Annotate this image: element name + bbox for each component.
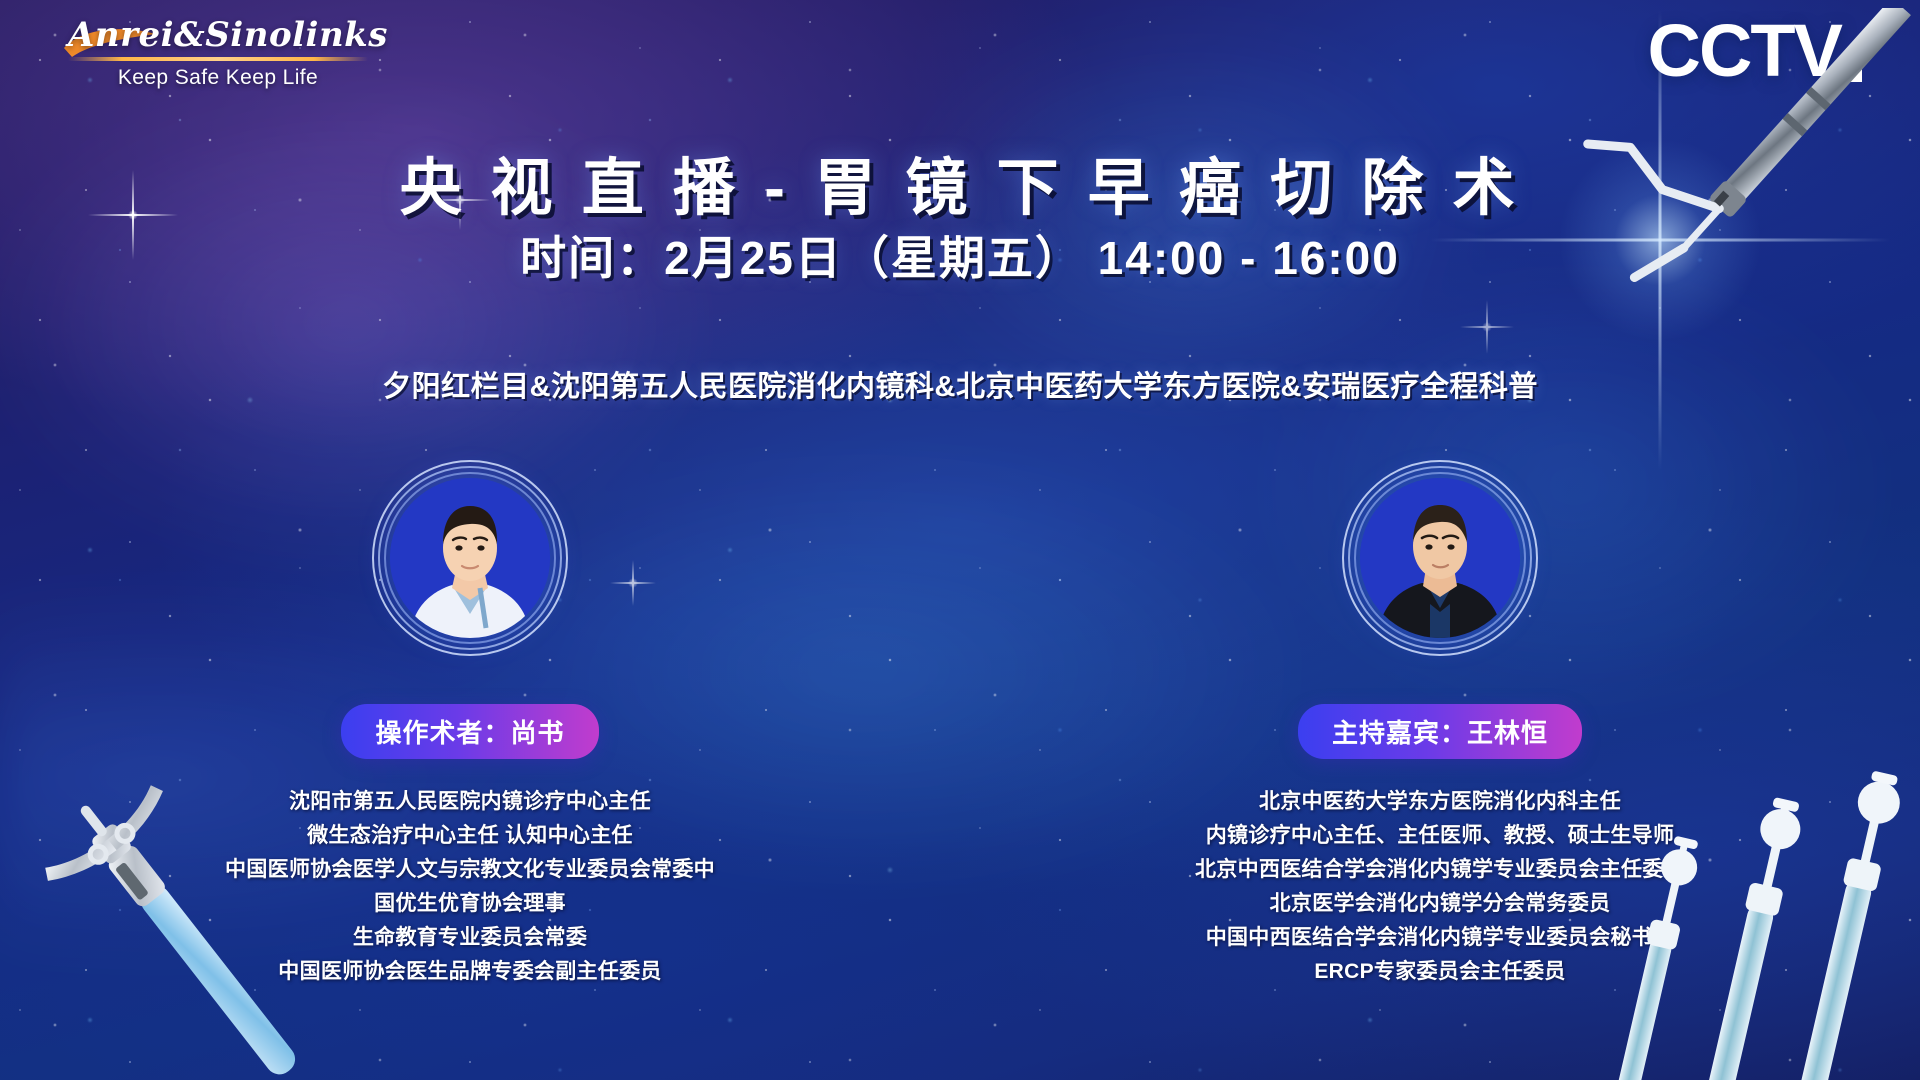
presenter-card: 主持嘉宾：王林恒 北京中医药大学东方医院消化内科主任 内镜诊疗中心主任、主任医师… — [960, 460, 1920, 989]
cctv-logo-dot — [1846, 66, 1862, 82]
role-badge-host: 主持嘉宾：王林恒 — [1298, 704, 1582, 759]
partners-line: 夕阳红栏目&沈阳第五人民医院消化内镜科&北京中医药大学东方医院&安瑞医疗全程科普 — [0, 363, 1920, 405]
cctv-logo: CCTV — [1648, 14, 1862, 88]
credentials-host: 北京中医药大学东方医院消化内科主任 内镜诊疗中心主任、主任医师、教授、硕士生导师… — [1195, 785, 1685, 989]
credential-line: 内镜诊疗中心主任、主任医师、教授、硕士生导师 — [1195, 819, 1685, 853]
credentials-operator: 沈阳市第五人民医院内镜诊疗中心主任 微生态治疗中心主任 认知中心主任 中国医师协… — [225, 785, 715, 989]
avatar — [1342, 460, 1538, 656]
avatar-photo-operator — [390, 478, 550, 638]
credential-line: ERCP专家委员会主任委员 — [1195, 955, 1685, 989]
credential-line: 中国医师协会医生品牌专委会副主任委员 — [225, 955, 715, 989]
brand-name: Anrei&Sinolinks — [68, 18, 368, 54]
credential-line: 沈阳市第五人民医院内镜诊疗中心主任 — [225, 785, 715, 819]
role-badge-operator: 操作术者：尚书 — [341, 704, 598, 759]
page-title: 央 视 直 播 - 胃 镜 下 早 癌 切 除 术 — [0, 137, 1920, 227]
credential-line: 国优生优育协会理事 — [225, 887, 715, 921]
credential-line: 中国中西医结合学会消化内镜学专业委员会秘书长 — [1195, 921, 1685, 955]
credential-line: 北京中医药大学东方医院消化内科主任 — [1195, 785, 1685, 819]
credential-line: 生命教育专业委员会常委 — [225, 921, 715, 955]
promo-poster: Anrei&Sinolinks Keep Safe Keep Life CCTV… — [0, 0, 1920, 1080]
cctv-logo-text: CCTV — [1648, 14, 1841, 88]
brand-tagline: Keep Safe Keep Life — [68, 66, 368, 90]
presenters-section: 操作术者：尚书 沈阳市第五人民医院内镜诊疗中心主任 微生态治疗中心主任 认知中心… — [0, 460, 1920, 989]
credential-line: 北京中西医结合学会消化内镜学专业委员会主任委员 — [1195, 853, 1685, 887]
credential-line: 北京医学会消化内镜学分会常务委员 — [1195, 887, 1685, 921]
brand-logo: Anrei&Sinolinks Keep Safe Keep Life — [68, 18, 368, 90]
credential-line: 中国医师协会医学人文与宗教文化专业委员会常委中 — [225, 853, 715, 887]
avatar-photo-host — [1360, 478, 1520, 638]
presenter-card: 操作术者：尚书 沈阳市第五人民医院内镜诊疗中心主任 微生态治疗中心主任 认知中心… — [0, 460, 950, 989]
credential-line: 微生态治疗中心主任 认知中心主任 — [225, 819, 715, 853]
event-time: 时间：2月25日（星期五） 14:00 - 16:00 — [0, 222, 1920, 288]
avatar — [372, 460, 568, 656]
